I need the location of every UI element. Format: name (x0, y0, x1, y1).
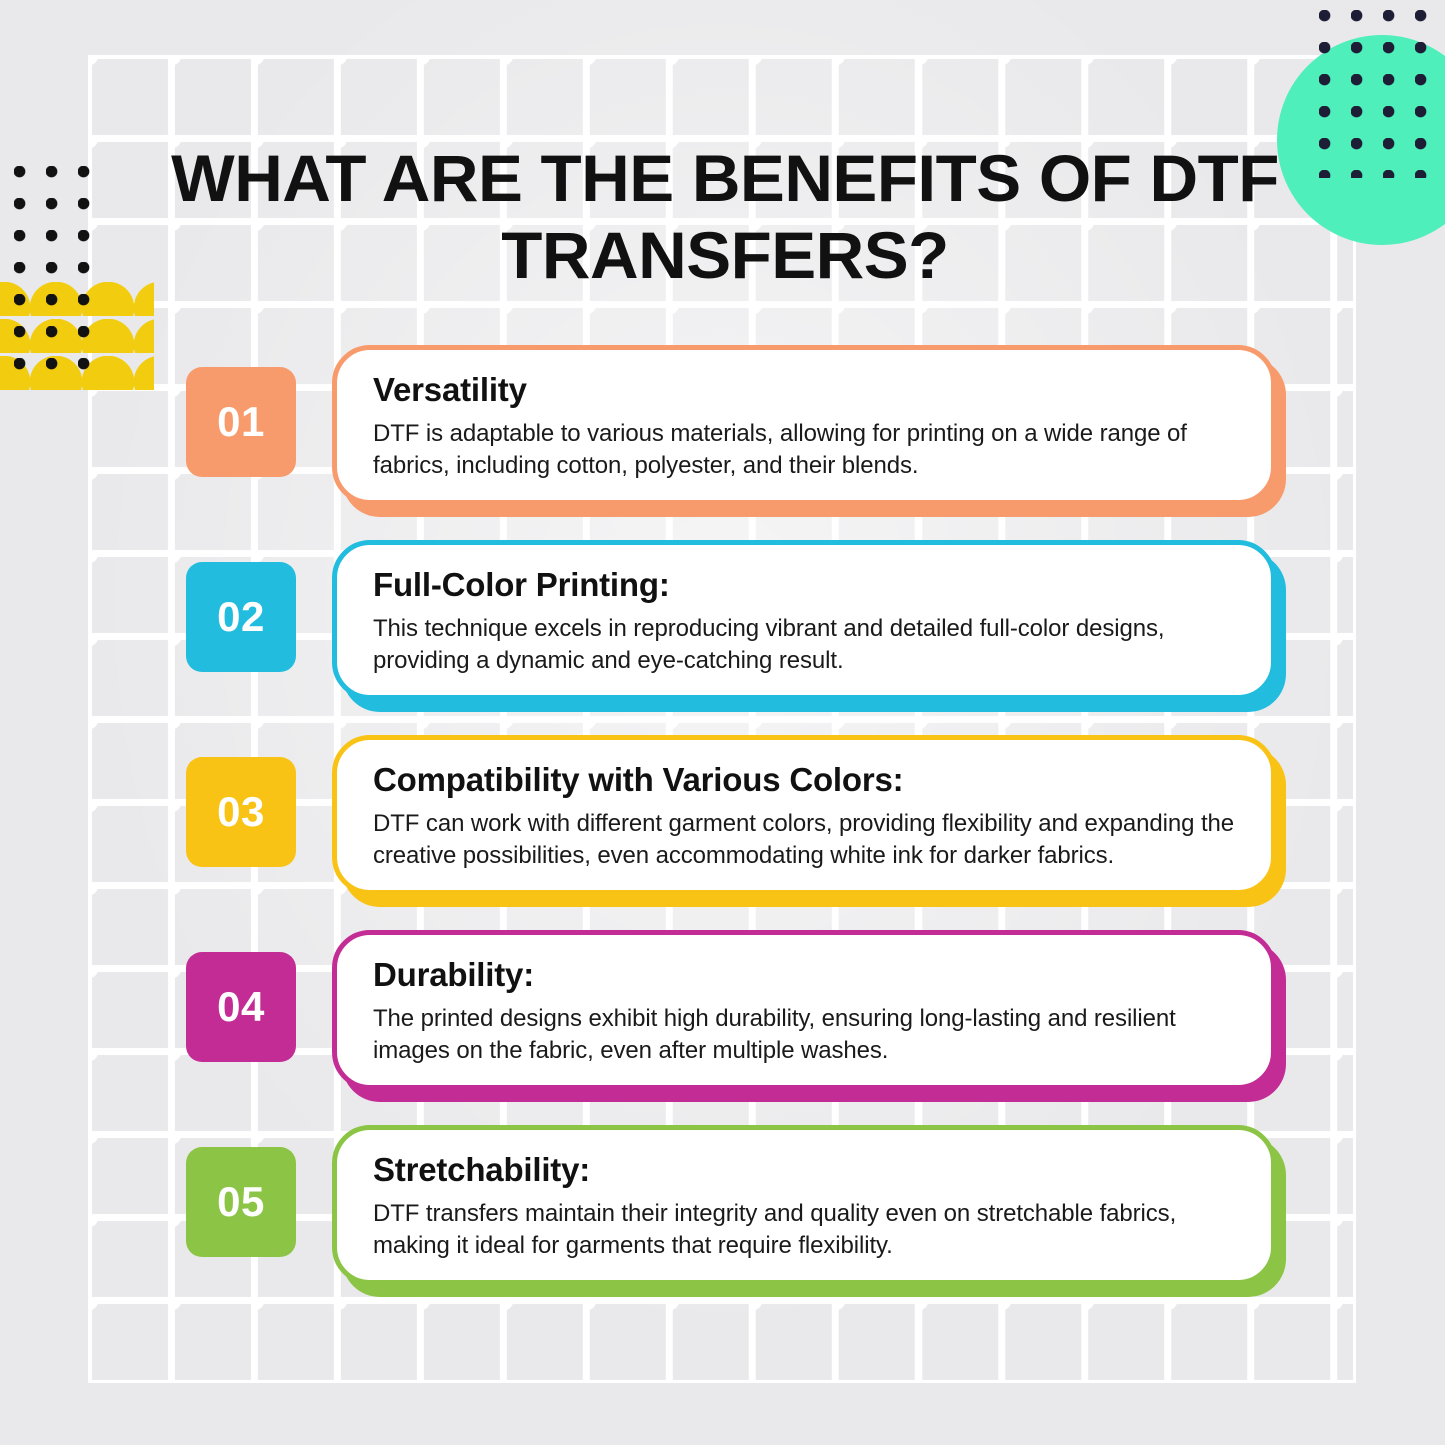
benefit-card-wrap-04: Durability: The printed designs exhibit … (332, 930, 1276, 1090)
benefit-desc-01: DTF is adaptable to various materials, a… (373, 418, 1237, 481)
benefit-row-01: 01 Versatility DTF is adaptable to vario… (186, 345, 1276, 510)
benefit-number-03: 03 (217, 788, 265, 836)
benefit-card-wrap-01: Versatility DTF is adaptable to various … (332, 345, 1276, 505)
benefit-row-05: 05 Stretchability: DTF transfers maintai… (186, 1125, 1276, 1290)
benefit-card-wrap-05: Stretchability: DTF transfers maintain t… (332, 1125, 1276, 1285)
benefit-row-02: 02 Full-Color Printing: This technique e… (186, 540, 1276, 705)
benefit-number-badge-05: 05 (186, 1147, 296, 1257)
benefit-title-02: Full-Color Printing: (373, 567, 1237, 603)
benefit-number-05: 05 (217, 1178, 265, 1226)
benefit-number-badge-04: 04 (186, 952, 296, 1062)
benefit-desc-05: DTF transfers maintain their integrity a… (373, 1198, 1237, 1261)
benefit-row-04: 04 Durability: The printed designs exhib… (186, 930, 1276, 1095)
benefits-list: 01 Versatility DTF is adaptable to vario… (186, 345, 1276, 1320)
benefit-title-04: Durability: (373, 957, 1237, 993)
benefit-desc-04: The printed designs exhibit high durabil… (373, 1003, 1237, 1066)
benefit-number-badge-03: 03 (186, 757, 296, 867)
benefit-desc-02: This technique excels in reproducing vib… (373, 613, 1237, 676)
benefit-card-wrap-03: Compatibility with Various Colors: DTF c… (332, 735, 1276, 895)
benefit-title-01: Versatility (373, 372, 1237, 408)
benefit-card-02: Full-Color Printing: This technique exce… (332, 540, 1276, 700)
benefit-title-03: Compatibility with Various Colors: (373, 762, 1237, 798)
infographic-content: WHAT ARE THE BENEFITS OF DTF TRANSFERS? … (0, 0, 1445, 1445)
benefit-card-04: Durability: The printed designs exhibit … (332, 930, 1276, 1090)
benefit-row-03: 03 Compatibility with Various Colors: DT… (186, 735, 1276, 900)
page-title-line-2: TRANSFERS? (149, 217, 1302, 294)
benefit-number-badge-01: 01 (186, 367, 296, 477)
benefit-card-01: Versatility DTF is adaptable to various … (332, 345, 1276, 505)
benefit-number-01: 01 (217, 398, 265, 446)
benefit-desc-03: DTF can work with different garment colo… (373, 808, 1237, 871)
page-title: WHAT ARE THE BENEFITS OF DTF TRANSFERS? (149, 140, 1302, 293)
benefit-number-04: 04 (217, 983, 265, 1031)
benefit-card-05: Stretchability: DTF transfers maintain t… (332, 1125, 1276, 1285)
benefit-card-wrap-02: Full-Color Printing: This technique exce… (332, 540, 1276, 700)
page-title-line-1: WHAT ARE THE BENEFITS OF DTF (149, 140, 1302, 217)
benefit-number-02: 02 (217, 593, 265, 641)
benefit-title-05: Stretchability: (373, 1152, 1237, 1188)
benefit-number-badge-02: 02 (186, 562, 296, 672)
benefit-card-03: Compatibility with Various Colors: DTF c… (332, 735, 1276, 895)
